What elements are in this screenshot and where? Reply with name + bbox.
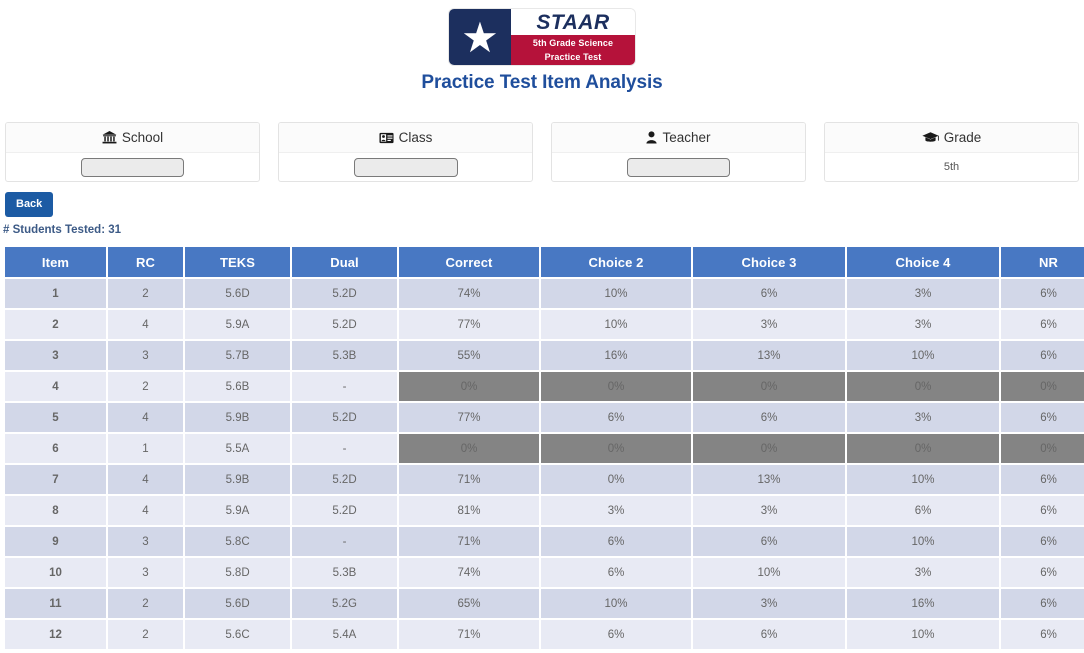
cell-choice3: 6% bbox=[693, 527, 845, 556]
cell-choice4: 0% bbox=[847, 372, 999, 401]
cell-choice3: 0% bbox=[693, 434, 845, 463]
table-header-row: Item RC TEKS Dual Correct Choice 2 Choic… bbox=[5, 247, 1084, 277]
cell-teks: 5.9B bbox=[185, 403, 290, 432]
cell-teks: 5.9A bbox=[185, 310, 290, 339]
item-link[interactable]: 6 bbox=[5, 434, 106, 463]
cell-choice4: 10% bbox=[847, 465, 999, 494]
item-link[interactable]: 9 bbox=[5, 527, 106, 556]
table-row: 1125.6D5.2G65%10%3%16%6% bbox=[5, 589, 1084, 618]
id-card-icon bbox=[379, 132, 394, 144]
cell-correct: 55% bbox=[399, 341, 539, 370]
cell-correct: 0% bbox=[399, 372, 539, 401]
person-icon bbox=[646, 131, 657, 144]
filter-grade-body: 5th bbox=[825, 153, 1078, 181]
cell-choice2: 0% bbox=[541, 465, 691, 494]
cell-choice4: 10% bbox=[847, 620, 999, 649]
column-header-choice2[interactable]: Choice 2 bbox=[541, 247, 691, 277]
item-link[interactable]: 2 bbox=[5, 310, 106, 339]
cell-nr: 6% bbox=[1001, 279, 1084, 308]
filter-teacher-header: Teacher bbox=[552, 123, 805, 153]
cell-choice3: 6% bbox=[693, 279, 845, 308]
column-header-choice4[interactable]: Choice 4 bbox=[847, 247, 999, 277]
filter-card-school: School bbox=[5, 122, 260, 182]
cell-nr: 6% bbox=[1001, 527, 1084, 556]
filter-class-body bbox=[279, 153, 532, 181]
page-header: ★ STAAR 5th Grade Science Practice Test … bbox=[0, 0, 1084, 94]
cell-dual: 5.2G bbox=[292, 589, 397, 618]
page-root: ★ STAAR 5th Grade Science Practice Test … bbox=[0, 0, 1084, 653]
cell-choice4: 3% bbox=[847, 558, 999, 587]
cell-correct: 71% bbox=[399, 527, 539, 556]
item-link[interactable]: 12 bbox=[5, 620, 106, 649]
cell-choice2: 0% bbox=[541, 434, 691, 463]
cell-rc: 1 bbox=[108, 434, 183, 463]
column-header-dual[interactable]: Dual bbox=[292, 247, 397, 277]
filter-school-header: School bbox=[6, 123, 259, 153]
table-row: 615.5A-0%0%0%0%0% bbox=[5, 434, 1084, 463]
cell-rc: 2 bbox=[108, 589, 183, 618]
cell-dual: 5.3B bbox=[292, 341, 397, 370]
cell-teks: 5.8D bbox=[185, 558, 290, 587]
table-row: 1035.8D5.3B74%6%10%3%6% bbox=[5, 558, 1084, 587]
cell-choice4: 16% bbox=[847, 589, 999, 618]
cell-rc: 4 bbox=[108, 310, 183, 339]
cell-choice2: 6% bbox=[541, 558, 691, 587]
cell-rc: 2 bbox=[108, 372, 183, 401]
staar-logo: ★ STAAR 5th Grade Science Practice Test bbox=[449, 9, 635, 65]
item-link[interactable]: 3 bbox=[5, 341, 106, 370]
cell-choice4: 6% bbox=[847, 496, 999, 525]
cell-nr: 6% bbox=[1001, 465, 1084, 494]
table-row: 935.8C-71%6%6%10%6% bbox=[5, 527, 1084, 556]
cell-choice4: 10% bbox=[847, 527, 999, 556]
cell-teks: 5.6B bbox=[185, 372, 290, 401]
cell-teks: 5.9A bbox=[185, 496, 290, 525]
cell-rc: 4 bbox=[108, 496, 183, 525]
school-select[interactable] bbox=[81, 158, 184, 177]
cell-correct: 77% bbox=[399, 310, 539, 339]
logo-subtitle: 5th Grade Science Practice Test bbox=[511, 35, 635, 65]
logo-text-panel: STAAR 5th Grade Science Practice Test bbox=[511, 9, 635, 65]
cell-choice4: 3% bbox=[847, 403, 999, 432]
cell-dual: - bbox=[292, 434, 397, 463]
cell-choice2: 6% bbox=[541, 403, 691, 432]
column-header-rc[interactable]: RC bbox=[108, 247, 183, 277]
cell-choice2: 10% bbox=[541, 279, 691, 308]
cell-nr: 6% bbox=[1001, 496, 1084, 525]
cell-choice2: 10% bbox=[541, 310, 691, 339]
cell-choice3: 0% bbox=[693, 372, 845, 401]
filter-school-body bbox=[6, 153, 259, 181]
cell-correct: 77% bbox=[399, 403, 539, 432]
item-analysis-table-wrapper: Item RC TEKS Dual Correct Choice 2 Choic… bbox=[3, 245, 1084, 651]
cell-choice2: 0% bbox=[541, 372, 691, 401]
cell-nr: 6% bbox=[1001, 620, 1084, 649]
table-row: 545.9B5.2D77%6%6%3%6% bbox=[5, 403, 1084, 432]
item-analysis-table: Item RC TEKS Dual Correct Choice 2 Choic… bbox=[3, 245, 1084, 651]
cell-rc: 4 bbox=[108, 403, 183, 432]
table-row: 125.6D5.2D74%10%6%3%6% bbox=[5, 279, 1084, 308]
cell-teks: 5.7B bbox=[185, 341, 290, 370]
cell-choice4: 0% bbox=[847, 434, 999, 463]
cell-nr: 6% bbox=[1001, 589, 1084, 618]
graduation-cap-icon bbox=[922, 131, 939, 144]
table-row: 745.9B5.2D71%0%13%10%6% bbox=[5, 465, 1084, 494]
table-row: 845.9A5.2D81%3%3%6%6% bbox=[5, 496, 1084, 525]
item-link[interactable]: 8 bbox=[5, 496, 106, 525]
cell-teks: 5.8C bbox=[185, 527, 290, 556]
cell-correct: 65% bbox=[399, 589, 539, 618]
cell-teks: 5.6D bbox=[185, 589, 290, 618]
cell-dual: 5.2D bbox=[292, 403, 397, 432]
cell-nr: 6% bbox=[1001, 558, 1084, 587]
table-row: 335.7B5.3B55%16%13%10%6% bbox=[5, 341, 1084, 370]
logo-brand-text: STAAR bbox=[536, 11, 609, 35]
column-header-correct[interactable]: Correct bbox=[399, 247, 539, 277]
item-link[interactable]: 7 bbox=[5, 465, 106, 494]
cell-choice4: 10% bbox=[847, 341, 999, 370]
cell-rc: 3 bbox=[108, 558, 183, 587]
cell-rc: 4 bbox=[108, 465, 183, 494]
logo-subtitle-line1: 5th Grade Science bbox=[511, 36, 635, 50]
cell-choice3: 13% bbox=[693, 341, 845, 370]
item-link[interactable]: 10 bbox=[5, 558, 106, 587]
cell-correct: 81% bbox=[399, 496, 539, 525]
cell-teks: 5.6C bbox=[185, 620, 290, 649]
filter-teacher-body bbox=[552, 153, 805, 181]
cell-choice4: 3% bbox=[847, 279, 999, 308]
item-link[interactable]: 11 bbox=[5, 589, 106, 618]
table-row: 425.6B-0%0%0%0%0% bbox=[5, 372, 1084, 401]
filter-school-label: School bbox=[122, 130, 163, 145]
filter-class-header: Class bbox=[279, 123, 532, 153]
table-row: 245.9A5.2D77%10%3%3%6% bbox=[5, 310, 1084, 339]
filter-class-label: Class bbox=[399, 130, 433, 145]
cell-dual: 5.4A bbox=[292, 620, 397, 649]
cell-nr: 6% bbox=[1001, 310, 1084, 339]
cell-choice3: 6% bbox=[693, 620, 845, 649]
grade-value: 5th bbox=[944, 161, 959, 173]
filter-bar: School Class bbox=[5, 122, 1079, 182]
table-body: 125.6D5.2D74%10%6%3%6%245.9A5.2D77%10%3%… bbox=[5, 279, 1084, 649]
back-button[interactable]: Back bbox=[5, 192, 53, 217]
cell-nr: 0% bbox=[1001, 434, 1084, 463]
cell-rc: 2 bbox=[108, 620, 183, 649]
cell-dual: 5.2D bbox=[292, 496, 397, 525]
filter-card-class: Class bbox=[278, 122, 533, 182]
cell-choice3: 3% bbox=[693, 310, 845, 339]
filter-grade-header: Grade bbox=[825, 123, 1078, 153]
cell-nr: 0% bbox=[1001, 372, 1084, 401]
students-tested-count: # Students Tested: 31 bbox=[3, 224, 121, 236]
cell-rc: 2 bbox=[108, 279, 183, 308]
cell-choice2: 6% bbox=[541, 620, 691, 649]
logo-subtitle-line2: Practice Test bbox=[511, 50, 635, 64]
item-link[interactable]: 5 bbox=[5, 403, 106, 432]
cell-correct: 0% bbox=[399, 434, 539, 463]
logo-brand: STAAR bbox=[511, 9, 635, 35]
filter-card-grade: Grade 5th bbox=[824, 122, 1079, 182]
cell-choice2: 10% bbox=[541, 589, 691, 618]
bank-icon bbox=[102, 131, 117, 144]
cell-rc: 3 bbox=[108, 341, 183, 370]
column-header-teks[interactable]: TEKS bbox=[185, 247, 290, 277]
page-title: Practice Test Item Analysis bbox=[0, 72, 1084, 94]
cell-choice3: 6% bbox=[693, 403, 845, 432]
cell-rc: 3 bbox=[108, 527, 183, 556]
cell-choice2: 3% bbox=[541, 496, 691, 525]
filter-teacher-label: Teacher bbox=[662, 130, 710, 145]
cell-dual: 5.2D bbox=[292, 310, 397, 339]
cell-choice4: 3% bbox=[847, 310, 999, 339]
item-link[interactable]: 1 bbox=[5, 279, 106, 308]
cell-correct: 74% bbox=[399, 558, 539, 587]
filter-card-teacher: Teacher bbox=[551, 122, 806, 182]
cell-teks: 5.6D bbox=[185, 279, 290, 308]
item-link[interactable]: 4 bbox=[5, 372, 106, 401]
cell-correct: 74% bbox=[399, 279, 539, 308]
cell-teks: 5.9B bbox=[185, 465, 290, 494]
cell-choice3: 10% bbox=[693, 558, 845, 587]
class-select[interactable] bbox=[354, 158, 458, 177]
cell-choice3: 3% bbox=[693, 496, 845, 525]
column-header-choice3[interactable]: Choice 3 bbox=[693, 247, 845, 277]
cell-choice3: 3% bbox=[693, 589, 845, 618]
teacher-select[interactable] bbox=[627, 158, 730, 177]
column-header-nr[interactable]: NR bbox=[1001, 247, 1084, 277]
cell-nr: 6% bbox=[1001, 403, 1084, 432]
table-row: 1225.6C5.4A71%6%6%10%6% bbox=[5, 620, 1084, 649]
star-icon: ★ bbox=[461, 15, 499, 61]
cell-dual: - bbox=[292, 372, 397, 401]
column-header-item[interactable]: Item bbox=[5, 247, 106, 277]
cell-dual: 5.2D bbox=[292, 279, 397, 308]
cell-teks: 5.5A bbox=[185, 434, 290, 463]
texas-flag-panel: ★ bbox=[449, 9, 511, 65]
cell-correct: 71% bbox=[399, 465, 539, 494]
cell-dual: 5.3B bbox=[292, 558, 397, 587]
cell-dual: - bbox=[292, 527, 397, 556]
cell-choice2: 6% bbox=[541, 527, 691, 556]
cell-nr: 6% bbox=[1001, 341, 1084, 370]
cell-choice2: 16% bbox=[541, 341, 691, 370]
cell-choice3: 13% bbox=[693, 465, 845, 494]
cell-correct: 71% bbox=[399, 620, 539, 649]
cell-dual: 5.2D bbox=[292, 465, 397, 494]
filter-grade-label: Grade bbox=[944, 130, 982, 145]
